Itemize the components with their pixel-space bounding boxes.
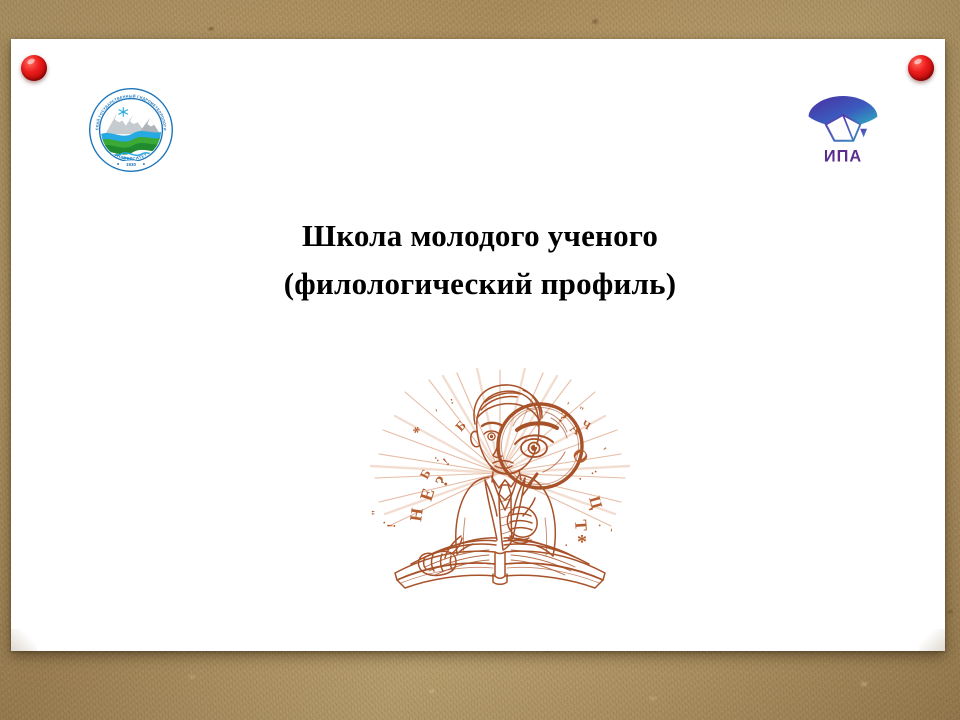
svg-text:Б: Б — [452, 418, 469, 434]
svg-text:.: . — [565, 538, 568, 549]
paper-corner-curl-right — [919, 629, 945, 651]
svg-text:.: . — [576, 474, 588, 482]
title-line-2: (филологический профиль) — [0, 260, 960, 308]
svg-text:1930: 1930 — [126, 162, 136, 167]
svg-text:-: - — [606, 528, 618, 533]
svg-text:.: . — [376, 521, 388, 524]
svg-text:Н: Н — [406, 507, 427, 523]
paper-corner-curl-left — [11, 629, 37, 651]
slide-root: РОССИЙСКИЙ ГОСУДАРСТВЕННЫЙ ГИДРОМЕТЕОРОЛ… — [0, 0, 960, 720]
ipa-logo: ИПА — [800, 84, 886, 170]
svg-text:Ч: Ч — [580, 418, 593, 432]
rshu-logo: РОССИЙСКИЙ ГОСУДАРСТВЕННЫЙ ГИДРОМЕТЕОРОЛ… — [88, 87, 174, 173]
svg-text:О: О — [567, 444, 593, 469]
pushpin-top-right[interactable] — [908, 55, 934, 81]
ipa-abbreviation: ИПА — [824, 147, 862, 165]
svg-text:": " — [370, 510, 382, 517]
pushpin-top-left[interactable] — [21, 55, 47, 81]
svg-text:!: ! — [440, 455, 452, 468]
slide-title: Школа молодого ученого (филологический п… — [0, 212, 960, 308]
illustration-man-with-magnifier: * Б : ! Б ? Е Н ! . " ' : " ' — [365, 368, 635, 593]
svg-text:': ' — [597, 444, 609, 456]
title-line-1: Школа молодого ученого — [0, 212, 960, 260]
svg-text:*: * — [577, 531, 587, 553]
